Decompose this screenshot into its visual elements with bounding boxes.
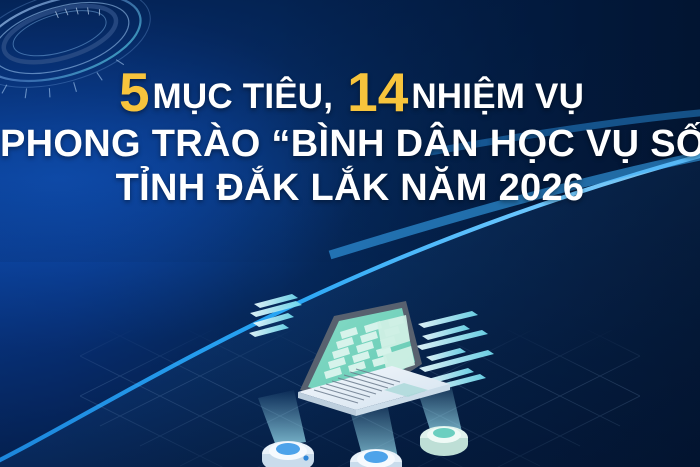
- data-bars-left: [249, 294, 302, 337]
- task-label: NHIỆM VỤ: [411, 77, 584, 116]
- headline-block: 5MỤC TIÊU, 14NHIỆM VỤ PHONG TRÀO “BÌNH D…: [0, 68, 700, 207]
- task-count-number: 14: [347, 61, 408, 123]
- headline-line-1: 5MỤC TIÊU, 14NHIỆM VỤ: [0, 68, 700, 118]
- poster-canvas: 5MỤC TIÊU, 14NHIỆM VỤ PHONG TRÀO “BÌNH D…: [0, 0, 700, 467]
- headline-line-3: TỈNH ĐẮK LẮK NĂM 2026: [0, 169, 700, 207]
- holo-puck: [420, 426, 468, 456]
- goal-label: MỤC TIÊU,: [153, 77, 334, 116]
- goal-count-number: 5: [119, 61, 150, 123]
- holo-puck: [262, 441, 314, 467]
- headline-line-2: PHONG TRÀO “BÌNH DÂN HỌC VỤ SỐ”: [0, 125, 700, 163]
- laptop-illustration: [236, 286, 526, 467]
